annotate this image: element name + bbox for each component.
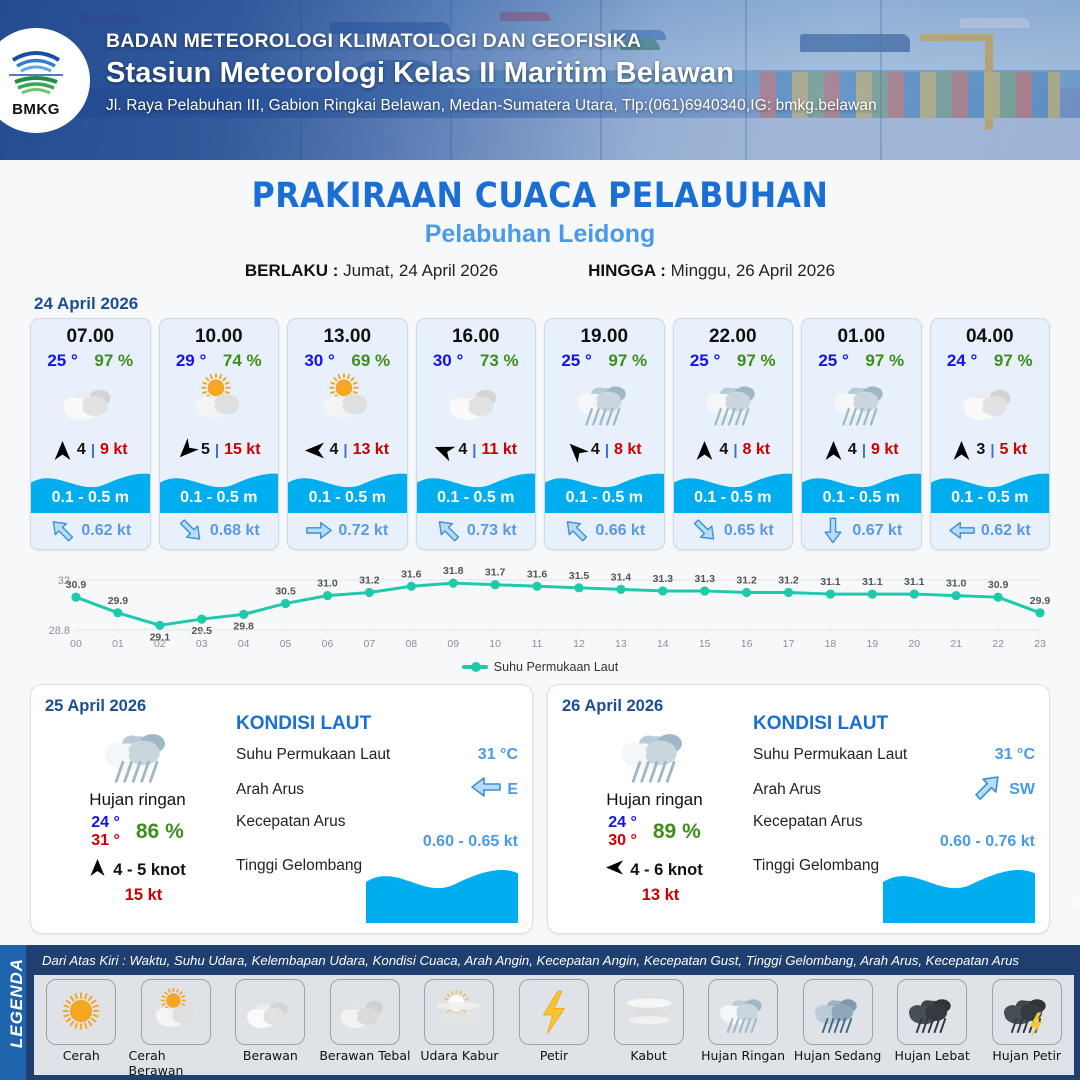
legend-body: Dari Atas Kiri : Waktu, Suhu Udara, Kele… bbox=[26, 945, 1080, 1080]
svg-text:29.9: 29.9 bbox=[1030, 595, 1050, 607]
svg-text:08: 08 bbox=[405, 638, 417, 650]
svg-text:14: 14 bbox=[657, 638, 669, 650]
svg-text:31.7: 31.7 bbox=[485, 567, 506, 579]
card-temperature: 24 ° bbox=[947, 351, 977, 371]
current-speed: 0.62 kt bbox=[981, 522, 1031, 540]
daily-date: 26 April 2026 bbox=[562, 697, 747, 716]
card-time: 01.00 bbox=[802, 319, 921, 348]
card-time: 16.00 bbox=[417, 319, 536, 348]
weather-berawan-icon bbox=[235, 979, 305, 1045]
legend-item-label: Udara Kabur bbox=[420, 1048, 498, 1063]
wave-height-label: Tinggi Gelombang bbox=[753, 857, 879, 875]
svg-text:30.9: 30.9 bbox=[988, 579, 1009, 591]
weather-hujan-lebat-icon bbox=[897, 979, 967, 1045]
wind-speed: 4 bbox=[329, 441, 338, 459]
current-speed: 0.66 kt bbox=[595, 522, 645, 540]
weather-cerah-icon bbox=[46, 979, 116, 1045]
svg-text:31.6: 31.6 bbox=[527, 568, 548, 580]
wave-height-value: 0.1 - 0.5 m bbox=[160, 489, 279, 507]
gust-speed: 15 kt bbox=[224, 441, 260, 459]
weather-udara-kabur-icon bbox=[424, 979, 494, 1045]
svg-text:31.1: 31.1 bbox=[820, 576, 841, 588]
svg-text:03: 03 bbox=[196, 638, 208, 650]
hourly-date-label: 24 April 2026 bbox=[34, 294, 1080, 314]
svg-text:06: 06 bbox=[322, 638, 334, 650]
legend-item: Udara Kabur bbox=[412, 975, 507, 1063]
current-direction-icon bbox=[820, 520, 846, 542]
wave-height-value: 0.1 - 0.5 m bbox=[802, 489, 921, 507]
sea-condition-title: KONDISI LAUT bbox=[753, 713, 1035, 735]
svg-text:31.1: 31.1 bbox=[862, 576, 883, 588]
chart-legend: Suhu Permukaan Laut bbox=[0, 660, 1080, 674]
card-humidity: 97 % bbox=[94, 351, 133, 371]
card-humidity: 73 % bbox=[480, 351, 519, 371]
legend-item: Kabut bbox=[601, 975, 696, 1063]
wind-speed: 4 bbox=[77, 441, 86, 459]
wave-height-value: 0.1 - 0.5 m bbox=[417, 489, 536, 507]
current-direction-icon bbox=[692, 520, 718, 542]
svg-text:02: 02 bbox=[154, 638, 166, 650]
legend-item-label: Cerah Berawan bbox=[129, 1048, 224, 1078]
svg-text:29.9: 29.9 bbox=[108, 595, 129, 607]
svg-text:31.6: 31.6 bbox=[401, 568, 422, 580]
card-humidity: 97 % bbox=[608, 351, 647, 371]
daily-humidity: 89 % bbox=[653, 820, 701, 844]
current-speed-value: 0.60 - 0.65 kt bbox=[236, 833, 518, 851]
wave-height-value: 0.1 - 0.5 m bbox=[674, 489, 793, 507]
page-title: PRAKIRAAN CUACA PELABUHAN bbox=[0, 176, 1080, 216]
legend-item: Petir bbox=[507, 975, 602, 1063]
daily-wind-direction-icon bbox=[606, 858, 623, 882]
wave-height-band: 0.1 - 0.5 m bbox=[802, 467, 921, 513]
header-text-block: BADAN METEOROLOGI KLIMATOLOGI DAN GEOFIS… bbox=[106, 30, 877, 115]
svg-text:15: 15 bbox=[699, 638, 711, 650]
weather-hujan-petir-icon bbox=[992, 979, 1062, 1045]
hourly-card[interactable]: 22.00 25 ° 97 % 4 | 8 kt 0.1 - 0.5 m 0.6… bbox=[673, 318, 794, 550]
svg-text:31.5: 31.5 bbox=[569, 570, 590, 582]
daily-gust: 13 kt bbox=[574, 886, 747, 905]
svg-text:31.1: 31.1 bbox=[904, 576, 925, 588]
legend-section: LEGENDA Dari Atas Kiri : Waktu, Suhu Uda… bbox=[0, 945, 1080, 1080]
wave-height-band: 0.1 - 0.5 m bbox=[931, 467, 1050, 513]
separator: | bbox=[990, 442, 994, 459]
legend-note: Dari Atas Kiri : Waktu, Suhu Udara, Kele… bbox=[42, 953, 1019, 968]
wave-height-band: 0.1 - 0.5 m bbox=[545, 467, 664, 513]
card-time: 07.00 bbox=[31, 319, 150, 348]
legend-item: Cerah bbox=[34, 975, 129, 1063]
weather-hujan-ringan-icon bbox=[802, 371, 921, 433]
gust-speed: 8 kt bbox=[614, 441, 642, 459]
card-temperature: 25 ° bbox=[561, 351, 591, 371]
legend-item-label: Berawan Tebal bbox=[319, 1048, 410, 1063]
daily-wave-band: 0.1 - 0.5 m bbox=[883, 861, 1035, 923]
current-direction-label: Arah Arus bbox=[236, 781, 304, 799]
wave-height-band: 0.1 - 0.5 m bbox=[288, 467, 407, 513]
weather-berawan-icon bbox=[931, 371, 1050, 433]
legend-item: Berawan bbox=[223, 975, 318, 1063]
hourly-forecast-list: 07.00 25 ° 97 % 4 | 9 kt 0.1 - 0.5 m 0.6… bbox=[0, 318, 1080, 550]
current-direction-icon bbox=[178, 520, 204, 542]
card-humidity: 69 % bbox=[351, 351, 390, 371]
wave-height-value: 0.1 - 0.5 m bbox=[931, 489, 1050, 507]
wave-height-value: 0.1 - 0.5 m bbox=[288, 489, 407, 507]
svg-text:18: 18 bbox=[825, 638, 837, 650]
wind-direction-icon bbox=[305, 440, 324, 461]
current-speed: 0.65 kt bbox=[724, 522, 774, 540]
wind-speed: 3 bbox=[976, 441, 985, 459]
hingga-value: Minggu, 26 April 2026 bbox=[671, 261, 835, 280]
wave-height-band: 0.1 - 0.5 m bbox=[674, 467, 793, 513]
card-temperature: 30 ° bbox=[304, 351, 334, 371]
chart-legend-marker bbox=[462, 665, 488, 669]
card-time: 19.00 bbox=[545, 319, 664, 348]
current-direction-icon bbox=[949, 520, 975, 542]
card-humidity: 97 % bbox=[994, 351, 1033, 371]
current-speed-label: Kecepatan Arus bbox=[236, 813, 345, 831]
wind-direction-icon bbox=[824, 440, 843, 461]
current-direction-icon bbox=[306, 520, 332, 542]
svg-text:16: 16 bbox=[741, 638, 753, 650]
daily-wind-speed: 4 - 5 knot bbox=[113, 861, 185, 880]
daily-humidity: 86 % bbox=[136, 820, 184, 844]
weather-hujan-ringan-icon bbox=[708, 979, 778, 1045]
wave-height-label: Tinggi Gelombang bbox=[236, 857, 362, 875]
svg-text:09: 09 bbox=[447, 638, 459, 650]
card-temperature: 25 ° bbox=[690, 351, 720, 371]
weather-hujan-ringan-icon bbox=[545, 371, 664, 433]
weather-petir-icon bbox=[519, 979, 589, 1045]
card-humidity: 97 % bbox=[865, 351, 904, 371]
sst-value: 31 °C bbox=[995, 746, 1035, 764]
separator: | bbox=[91, 442, 95, 459]
svg-text:22: 22 bbox=[992, 638, 1004, 650]
legend-item-label: Petir bbox=[540, 1048, 568, 1063]
legend-item-label: Hujan Lebat bbox=[895, 1048, 970, 1063]
card-temperature: 29 ° bbox=[176, 351, 206, 371]
legend-item-label: Berawan bbox=[243, 1048, 298, 1063]
separator: | bbox=[472, 442, 476, 459]
current-direction-value: E bbox=[507, 781, 518, 799]
separator: | bbox=[733, 442, 737, 459]
legend-items: Cerah Cerah Berawan Berawan Berawan Teba… bbox=[34, 975, 1074, 1075]
svg-text:05: 05 bbox=[280, 638, 292, 650]
legend-item: Hujan Lebat bbox=[885, 975, 980, 1063]
daily-forecast-card[interactable]: 26 April 2026 Hujan ringan 24 ° 30 ° 89 … bbox=[547, 684, 1050, 934]
weather-cerah-berawan-icon bbox=[288, 371, 407, 433]
weather-hujan-sedang-icon bbox=[803, 979, 873, 1045]
legend-item: Hujan Ringan bbox=[696, 975, 791, 1063]
current-speed: 0.62 kt bbox=[81, 522, 131, 540]
separator: | bbox=[605, 442, 609, 459]
svg-text:31.2: 31.2 bbox=[736, 575, 757, 587]
wind-speed: 4 bbox=[848, 441, 857, 459]
svg-text:13: 13 bbox=[615, 638, 627, 650]
sst-label: Suhu Permukaan Laut bbox=[753, 746, 907, 764]
weather-hujan-ringan-icon bbox=[674, 371, 793, 433]
legend-item: Hujan Petir bbox=[979, 975, 1074, 1063]
svg-text:28.8: 28.8 bbox=[49, 625, 70, 637]
wind-speed: 4 bbox=[591, 441, 600, 459]
svg-text:04: 04 bbox=[238, 638, 250, 650]
daily-temp-min: 24 ° bbox=[91, 814, 120, 832]
current-direction-label: Arah Arus bbox=[753, 781, 821, 799]
svg-text:19: 19 bbox=[867, 638, 879, 650]
wind-direction-icon bbox=[567, 440, 586, 461]
weather-hujan-ringan-icon bbox=[562, 718, 747, 788]
svg-text:01: 01 bbox=[112, 638, 124, 650]
current-speed: 0.73 kt bbox=[467, 522, 517, 540]
daily-forecast-row: 25 April 2026 Hujan ringan 24 ° 31 ° 86 … bbox=[0, 684, 1080, 934]
svg-text:31.3: 31.3 bbox=[653, 573, 674, 585]
current-direction-icon bbox=[49, 520, 75, 542]
page-header: BMKG BADAN METEOROLOGI KLIMATOLOGI DAN G… bbox=[0, 0, 1080, 160]
daily-condition: Hujan ringan bbox=[562, 790, 747, 810]
svg-text:11: 11 bbox=[532, 638, 543, 650]
card-temperature: 30 ° bbox=[433, 351, 463, 371]
separator: | bbox=[343, 442, 347, 459]
hourly-card[interactable]: 01.00 25 ° 97 % 4 | 9 kt 0.1 - 0.5 m 0.6… bbox=[801, 318, 922, 550]
gust-speed: 9 kt bbox=[871, 441, 899, 459]
wind-speed: 5 bbox=[201, 441, 210, 459]
daily-date: 25 April 2026 bbox=[45, 697, 230, 716]
hourly-card[interactable]: 10.00 29 ° 74 % 5 | 15 kt 0.1 - 0.5 m 0.… bbox=[159, 318, 280, 550]
separator: | bbox=[862, 442, 866, 459]
sst-chart-svg: 3228.830.90029.90129.10229.50329.80430.5… bbox=[30, 564, 1050, 656]
svg-text:31.0: 31.0 bbox=[317, 578, 338, 590]
weather-berawan-icon bbox=[417, 371, 536, 433]
card-time: 10.00 bbox=[160, 319, 279, 348]
legend-item: Berawan Tebal bbox=[318, 975, 413, 1063]
legend-side-label: LEGENDA bbox=[7, 955, 27, 1051]
card-temperature: 25 ° bbox=[818, 351, 848, 371]
station-name: Stasiun Meteorologi Kelas II Maritim Bel… bbox=[106, 57, 877, 90]
svg-text:31.2: 31.2 bbox=[778, 575, 799, 587]
wind-direction-icon bbox=[177, 440, 196, 461]
wind-direction-icon bbox=[952, 440, 971, 461]
chart-legend-label: Suhu Permukaan Laut bbox=[494, 660, 618, 674]
daily-wind-speed: 4 - 6 knot bbox=[630, 861, 702, 880]
svg-text:31.4: 31.4 bbox=[611, 571, 632, 583]
svg-text:21: 21 bbox=[950, 638, 962, 650]
current-direction-icon bbox=[435, 520, 461, 542]
legend-item-label: Hujan Ringan bbox=[701, 1048, 785, 1063]
card-time: 04.00 bbox=[931, 319, 1050, 348]
bmkg-logo-text: BMKG bbox=[12, 101, 60, 118]
current-direction-icon bbox=[563, 520, 589, 542]
berlaku-label: BERLAKU : bbox=[245, 261, 339, 280]
current-speed: 0.68 kt bbox=[210, 522, 260, 540]
current-speed: 0.67 kt bbox=[852, 522, 902, 540]
wave-height-band: 0.1 - 0.5 m bbox=[160, 467, 279, 513]
hourly-card[interactable]: 16.00 30 ° 73 % 4 | 11 kt 0.1 - 0.5 m 0.… bbox=[416, 318, 537, 550]
gust-speed: 13 kt bbox=[353, 441, 389, 459]
card-time: 22.00 bbox=[674, 319, 793, 348]
sst-chart: 3228.830.90029.90129.10229.50329.80430.5… bbox=[30, 564, 1050, 656]
svg-text:20: 20 bbox=[908, 638, 920, 650]
card-humidity: 74 % bbox=[223, 351, 262, 371]
wave-height-value: 0.1 - 0.5 m bbox=[31, 489, 150, 507]
berlaku-value: Jumat, 24 April 2026 bbox=[343, 261, 498, 280]
legend-item: Hujan Sedang bbox=[790, 975, 885, 1063]
wave-height-value: 0.1 - 0.5 m bbox=[545, 489, 664, 507]
svg-text:30.5: 30.5 bbox=[275, 585, 296, 597]
weather-cerah-berawan-icon bbox=[141, 979, 211, 1045]
gust-speed: 11 kt bbox=[482, 441, 518, 459]
legend-item-label: Hujan Petir bbox=[992, 1048, 1061, 1063]
sst-label: Suhu Permukaan Laut bbox=[236, 746, 390, 764]
daily-wave-band: 0.1 - 0.5 m bbox=[366, 861, 518, 923]
svg-text:23: 23 bbox=[1034, 638, 1046, 650]
hourly-card[interactable]: 04.00 24 ° 97 % 3 | 5 kt 0.1 - 0.5 m 0.6… bbox=[930, 318, 1051, 550]
wind-direction-icon bbox=[695, 440, 714, 461]
hourly-card[interactable]: 19.00 25 ° 97 % 4 | 8 kt 0.1 - 0.5 m 0.6… bbox=[544, 318, 665, 550]
card-humidity: 97 % bbox=[737, 351, 776, 371]
svg-text:31.2: 31.2 bbox=[359, 575, 380, 587]
wave-height-band: 0.1 - 0.5 m bbox=[31, 467, 150, 513]
wave-height-band: 0.1 - 0.5 m bbox=[417, 467, 536, 513]
daily-wave-value: 0.1 - 0.5 m bbox=[1035, 896, 1080, 914]
bmkg-logo-glyph bbox=[5, 44, 67, 100]
hingga-label: HINGGA : bbox=[588, 261, 666, 280]
legend-item-label: Hujan Sedang bbox=[794, 1048, 881, 1063]
weather-kabut-icon bbox=[614, 979, 684, 1045]
gust-speed: 5 kt bbox=[1000, 441, 1028, 459]
current-speed-value: 0.60 - 0.76 kt bbox=[753, 833, 1035, 851]
svg-text:07: 07 bbox=[364, 638, 376, 650]
gust-speed: 9 kt bbox=[100, 441, 128, 459]
agency-name: BADAN METEOROLOGI KLIMATOLOGI DAN GEOFIS… bbox=[106, 30, 877, 53]
svg-text:12: 12 bbox=[573, 638, 585, 650]
daily-current-direction-icon bbox=[973, 775, 1003, 804]
daily-temp-max: 30 ° bbox=[608, 832, 637, 850]
daily-condition: Hujan ringan bbox=[45, 790, 230, 810]
page-subtitle: Pelabuhan Leidong bbox=[0, 220, 1080, 249]
weather-berawan-tebal-icon bbox=[330, 979, 400, 1045]
legend-item: Cerah Berawan bbox=[129, 975, 224, 1078]
svg-text:10: 10 bbox=[489, 638, 501, 650]
svg-text:00: 00 bbox=[70, 638, 82, 650]
daily-gust: 15 kt bbox=[57, 886, 230, 905]
svg-text:31.3: 31.3 bbox=[694, 573, 715, 585]
legend-item-label: Kabut bbox=[630, 1048, 666, 1063]
gust-speed: 8 kt bbox=[743, 441, 771, 459]
svg-text:31.8: 31.8 bbox=[443, 565, 464, 577]
weather-cerah-berawan-icon bbox=[160, 371, 279, 433]
wind-speed: 4 bbox=[719, 441, 728, 459]
validity-period: BERLAKU : Jumat, 24 April 2026 HINGGA : … bbox=[0, 261, 1080, 281]
current-speed-label: Kecepatan Arus bbox=[753, 813, 862, 831]
weather-berawan-icon bbox=[31, 371, 150, 433]
daily-temp-max: 31 ° bbox=[91, 832, 120, 850]
sst-value: 31 °C bbox=[478, 746, 518, 764]
current-speed: 0.72 kt bbox=[338, 522, 388, 540]
separator: | bbox=[215, 442, 219, 459]
daily-temp-min: 24 ° bbox=[608, 814, 637, 832]
svg-text:30.9: 30.9 bbox=[66, 579, 87, 591]
hourly-card[interactable]: 07.00 25 ° 97 % 4 | 9 kt 0.1 - 0.5 m 0.6… bbox=[30, 318, 151, 550]
wind-speed: 4 bbox=[458, 441, 467, 459]
card-temperature: 25 ° bbox=[47, 351, 77, 371]
wind-direction-icon bbox=[434, 440, 453, 461]
sea-condition-title: KONDISI LAUT bbox=[236, 713, 518, 735]
svg-text:17: 17 bbox=[783, 638, 795, 650]
station-address: Jl. Raya Pelabuhan III, Gabion Ringkai B… bbox=[106, 97, 877, 115]
daily-wind-direction-icon bbox=[89, 858, 106, 882]
current-direction-value: SW bbox=[1009, 781, 1035, 799]
daily-forecast-card[interactable]: 25 April 2026 Hujan ringan 24 ° 31 ° 86 … bbox=[30, 684, 533, 934]
weather-hujan-ringan-icon bbox=[45, 718, 230, 788]
daily-current-direction-icon bbox=[471, 775, 501, 804]
card-time: 13.00 bbox=[288, 319, 407, 348]
wind-direction-icon bbox=[53, 440, 72, 461]
page-title-block: PRAKIRAAN CUACA PELABUHAN Pelabuhan Leid… bbox=[0, 176, 1080, 281]
hourly-card[interactable]: 13.00 30 ° 69 % 4 | 13 kt 0.1 - 0.5 m 0.… bbox=[287, 318, 408, 550]
legend-item-label: Cerah bbox=[63, 1048, 100, 1063]
svg-text:31.0: 31.0 bbox=[946, 578, 967, 590]
